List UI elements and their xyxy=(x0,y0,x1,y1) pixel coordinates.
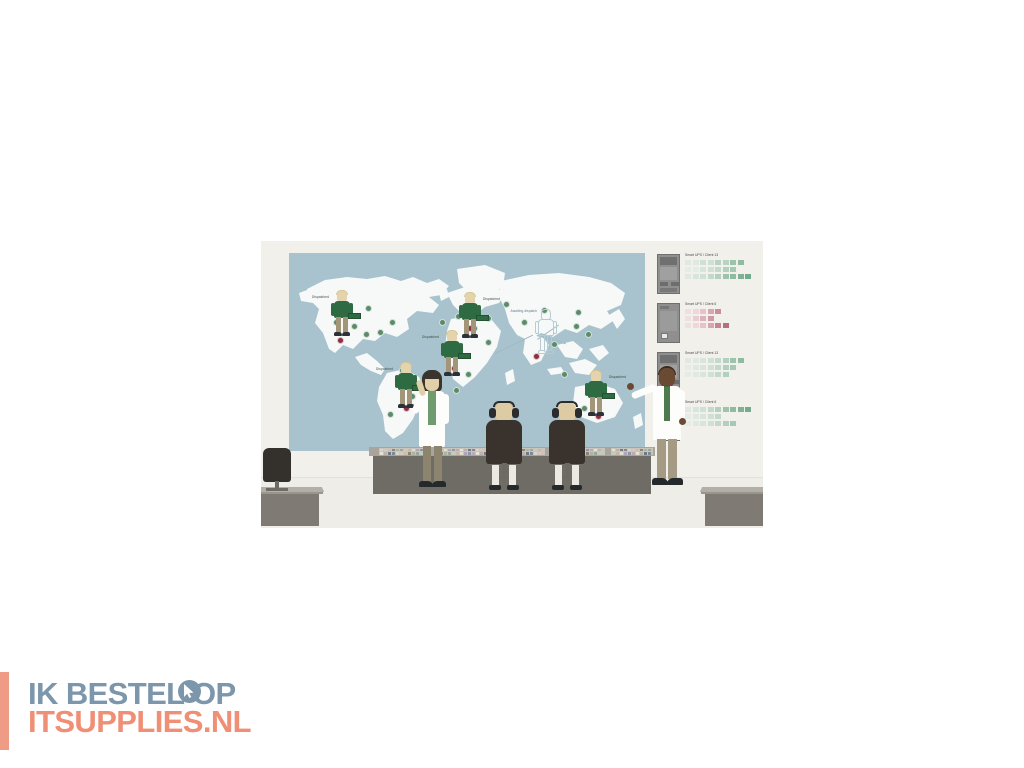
shoe xyxy=(652,478,668,485)
status-bar-cell xyxy=(723,260,729,265)
status-bar-cell xyxy=(730,274,736,279)
status-bar-cell xyxy=(723,407,729,412)
console-key[interactable] xyxy=(624,452,628,455)
status-bar-cell xyxy=(723,365,729,370)
client-panel-label: Smart UPS / Client 13 xyxy=(685,253,718,257)
status-bar-cell xyxy=(693,309,699,314)
status-bar-cell xyxy=(715,372,721,377)
status-bar-cell xyxy=(738,358,744,363)
status-bar-cell xyxy=(693,267,699,272)
agent-shoe xyxy=(470,334,478,338)
status-dot-online[interactable] xyxy=(575,309,582,316)
logo-accent-bar xyxy=(0,672,9,750)
shoe xyxy=(489,485,501,490)
console-key[interactable] xyxy=(396,452,400,455)
status-dot-online[interactable] xyxy=(363,331,370,338)
arm xyxy=(678,390,685,420)
console-key[interactable] xyxy=(632,452,636,455)
status-bar-cell xyxy=(708,323,714,328)
status-bar-cell xyxy=(693,407,699,412)
seated-operator-right[interactable] xyxy=(545,402,589,494)
status-dot-online[interactable] xyxy=(485,339,492,346)
status-bar-cell xyxy=(700,323,706,328)
hand xyxy=(627,383,634,390)
supervisor-on-phone[interactable] xyxy=(413,370,453,492)
map-agent-label: Dispatched xyxy=(376,367,393,371)
console-key[interactable] xyxy=(530,452,534,455)
status-bar-cell xyxy=(700,414,706,419)
status-dot-online[interactable] xyxy=(521,319,528,326)
status-bar-cell xyxy=(708,372,714,377)
agent-leg xyxy=(336,317,341,333)
status-bar-row xyxy=(685,267,751,272)
agent-shoe xyxy=(342,332,350,336)
status-bar-cell xyxy=(693,274,699,279)
status-bar-cell xyxy=(708,309,714,314)
console-key[interactable] xyxy=(476,452,480,455)
console-key[interactable] xyxy=(640,452,644,455)
status-bar-cell xyxy=(723,274,729,279)
status-bar-cell xyxy=(730,358,736,363)
console-key[interactable] xyxy=(590,452,594,455)
status-dot-online[interactable] xyxy=(387,411,394,418)
agent-shoe xyxy=(538,350,546,354)
status-dot-online[interactable] xyxy=(573,323,580,330)
console-key[interactable] xyxy=(472,452,476,455)
client-panel-label: Smart UPS / Client 6 xyxy=(685,302,716,306)
status-bar-cell xyxy=(708,358,714,363)
agent-leg xyxy=(453,357,458,373)
status-bar-cell xyxy=(715,323,721,328)
status-bar-cell xyxy=(700,372,706,377)
agent-shoe xyxy=(334,332,342,336)
console-key[interactable] xyxy=(392,452,396,455)
cursor-glyph xyxy=(184,684,195,698)
status-bar-cell xyxy=(700,421,706,426)
status-bar-cell xyxy=(708,274,714,279)
status-bar-cell xyxy=(730,260,736,265)
status-bar-cell xyxy=(693,372,699,377)
office-chair[interactable] xyxy=(486,420,522,464)
map-agent-label: Awaiting dispatch xyxy=(511,309,537,313)
status-bar-cell xyxy=(738,407,744,412)
status-bar-cell xyxy=(685,323,691,328)
page-root: Dispatched Dispatched xyxy=(0,0,1024,768)
status-bar-cell xyxy=(715,267,721,272)
agent-leg xyxy=(407,389,412,405)
map-agent-label: Dispatched xyxy=(483,297,500,301)
map-agent-label: Dispatched xyxy=(422,335,439,339)
status-bar-cell xyxy=(715,358,721,363)
manager-pointing[interactable] xyxy=(645,366,691,492)
status-bar-cell xyxy=(700,274,706,279)
agent-leg xyxy=(590,397,595,413)
client-panel[interactable]: Smart UPS / Client 13 xyxy=(657,251,757,298)
status-bar-cell xyxy=(715,421,721,426)
leg xyxy=(423,446,431,482)
status-bar-cell xyxy=(708,316,714,321)
status-bar-cell xyxy=(693,421,699,426)
status-bar-cell xyxy=(715,260,721,265)
console-key[interactable] xyxy=(534,452,538,455)
status-bar-cell xyxy=(700,358,706,363)
status-bar-cell xyxy=(730,365,736,370)
agent-toolcase xyxy=(476,315,489,321)
agent-shoe xyxy=(596,412,604,416)
status-bar-cell xyxy=(730,421,736,426)
mouse-cursor-icon xyxy=(178,680,201,703)
agent-shoe xyxy=(398,404,406,408)
status-bar-cell xyxy=(708,267,714,272)
status-bar-cell xyxy=(715,309,721,314)
agent-leg xyxy=(547,335,552,351)
console-key[interactable] xyxy=(616,452,620,455)
status-bar-row xyxy=(685,323,729,328)
status-dot-alert[interactable] xyxy=(337,337,344,344)
console-key[interactable] xyxy=(612,452,616,455)
status-dot-online[interactable] xyxy=(465,371,472,378)
chair-stem xyxy=(502,463,507,477)
status-bar-cell xyxy=(693,365,699,370)
status-bar-row xyxy=(685,407,751,412)
shirt xyxy=(428,391,436,425)
tower-ups-icon xyxy=(657,303,680,343)
status-bar-cell xyxy=(723,358,729,363)
status-bar-cell xyxy=(708,365,714,370)
status-bar-cell xyxy=(730,407,736,412)
status-bar-row xyxy=(685,421,751,426)
status-bar-cell xyxy=(693,316,699,321)
status-bar-cell xyxy=(738,274,744,279)
console-key[interactable] xyxy=(628,452,632,455)
shoe xyxy=(552,485,564,490)
console-key[interactable] xyxy=(538,452,542,455)
status-bar-row xyxy=(685,414,751,419)
headset-icon xyxy=(556,401,578,407)
console-key[interactable] xyxy=(468,452,472,455)
agent-shoe xyxy=(546,350,554,354)
status-bar-cell xyxy=(685,260,691,265)
world-map-display[interactable]: Dispatched Dispatched xyxy=(289,253,645,451)
office-chair[interactable] xyxy=(549,420,585,464)
seated-operator-left[interactable] xyxy=(482,402,526,494)
world-map-svg xyxy=(289,253,645,451)
console-key[interactable] xyxy=(404,452,408,455)
agent-toolcase xyxy=(348,313,361,319)
status-dot-online[interactable] xyxy=(439,319,446,326)
leg xyxy=(492,465,499,487)
status-bar-cell xyxy=(685,358,691,363)
status-bar-cell xyxy=(723,421,729,426)
status-bar-row xyxy=(685,316,729,321)
leg xyxy=(572,465,579,487)
status-bar-cell xyxy=(723,323,729,328)
console-key[interactable] xyxy=(400,452,404,455)
status-dot-online[interactable] xyxy=(453,387,460,394)
headset-earcup xyxy=(575,408,582,418)
console-key[interactable] xyxy=(598,452,602,455)
agent-shoe xyxy=(588,412,596,416)
map-agent-label: Dispatched xyxy=(609,375,626,379)
agent-leg xyxy=(343,317,348,333)
agent-shoe xyxy=(452,372,460,376)
client-panel-label: Smart UPS / Client 13 xyxy=(685,351,718,355)
status-bar-row xyxy=(685,274,751,279)
status-bar-cell xyxy=(715,274,721,279)
status-dot-online[interactable] xyxy=(377,329,384,336)
status-bar-cell xyxy=(685,316,691,321)
status-bar-cell xyxy=(685,309,691,314)
status-bar-cell xyxy=(745,274,751,279)
client-panel-bars xyxy=(685,260,751,281)
tie xyxy=(664,387,670,421)
leg xyxy=(668,439,677,479)
headset-earcup xyxy=(489,408,496,418)
status-bar-cell xyxy=(708,421,714,426)
status-bar-cell xyxy=(723,267,729,272)
console-key[interactable] xyxy=(464,452,468,455)
status-bar-cell xyxy=(693,414,699,419)
status-bar-cell xyxy=(685,267,691,272)
client-panel-bars xyxy=(685,407,751,428)
console-key[interactable] xyxy=(594,452,598,455)
status-dot-online[interactable] xyxy=(365,305,372,312)
client-panel[interactable]: Smart UPS / Client 6 xyxy=(657,300,757,347)
shoe xyxy=(570,485,582,490)
status-bar-cell xyxy=(700,260,706,265)
leg xyxy=(434,446,442,482)
status-bar-row xyxy=(685,358,744,363)
headset-earcup xyxy=(512,408,519,418)
status-bar-cell xyxy=(715,365,721,370)
status-bar-cell xyxy=(700,316,706,321)
status-bar-cell xyxy=(693,358,699,363)
console-key[interactable] xyxy=(388,452,392,455)
map-agent-north-america[interactable]: Dispatched xyxy=(331,291,353,337)
status-bar-cell xyxy=(730,267,736,272)
status-bar-row xyxy=(685,365,744,370)
status-bar-cell xyxy=(700,309,706,314)
agent-toolcase xyxy=(602,393,615,399)
head xyxy=(659,368,675,387)
status-bar-cell xyxy=(685,274,691,279)
empty-chair-left[interactable] xyxy=(263,448,291,492)
status-bar-cell xyxy=(693,260,699,265)
agent-leg xyxy=(597,397,602,413)
chair-stem xyxy=(565,463,570,477)
status-bar-cell xyxy=(708,414,714,419)
leg xyxy=(509,465,516,487)
rack-server-icon xyxy=(657,254,680,294)
status-dot-online[interactable] xyxy=(503,301,510,308)
agent-leg xyxy=(464,319,469,335)
status-bar-cell xyxy=(700,267,706,272)
agent-torso xyxy=(538,319,554,336)
status-bar-row xyxy=(685,372,744,377)
control-room-illustration: Dispatched Dispatched xyxy=(261,241,763,528)
status-bar-cell xyxy=(693,323,699,328)
status-bar-cell xyxy=(700,407,706,412)
map-agent-awaiting-dispatch[interactable]: Awaiting dispatch xyxy=(535,309,557,355)
status-bar-cell xyxy=(715,407,721,412)
shoe xyxy=(507,485,519,490)
console-key[interactable] xyxy=(526,452,530,455)
agent-leg xyxy=(400,389,405,405)
headset-earcup xyxy=(552,408,559,418)
shoe xyxy=(432,481,446,487)
shoe xyxy=(667,478,683,485)
agent-leg xyxy=(471,319,476,335)
status-dot-online[interactable] xyxy=(389,319,396,326)
console-key[interactable] xyxy=(408,452,412,455)
logo-line-2: ITSUPPLIES.NL xyxy=(28,704,251,740)
status-dot-online[interactable] xyxy=(561,371,568,378)
leg xyxy=(657,439,666,479)
console-key[interactable] xyxy=(456,452,460,455)
status-bar-cell xyxy=(708,260,714,265)
status-bar-cell xyxy=(723,372,729,377)
agent-toolcase xyxy=(458,353,471,359)
status-bar-cell xyxy=(708,407,714,412)
agent-shoe xyxy=(462,334,470,338)
status-bar-cell xyxy=(738,260,744,265)
status-bar-row xyxy=(685,260,751,265)
hand xyxy=(679,418,686,425)
shoe xyxy=(419,481,433,487)
status-dot-online[interactable] xyxy=(585,331,592,338)
status-bar-cell xyxy=(745,407,751,412)
hair xyxy=(422,370,442,379)
client-panel-bars xyxy=(685,358,744,379)
console-key[interactable] xyxy=(460,452,464,455)
side-desk-right xyxy=(701,491,763,494)
brand-logo[interactable]: IK BESTEL OP ITSUPPLIES.NL xyxy=(0,672,260,750)
leg xyxy=(555,465,562,487)
status-bar-row xyxy=(685,309,729,314)
status-bar-cell xyxy=(700,365,706,370)
console-key[interactable] xyxy=(620,452,624,455)
client-panel-bars xyxy=(685,309,729,330)
status-bar-cell xyxy=(715,414,721,419)
console-key[interactable] xyxy=(636,452,640,455)
agent-leg xyxy=(540,335,545,351)
headset-icon xyxy=(493,401,515,407)
map-agent-label: Dispatched xyxy=(312,295,329,299)
